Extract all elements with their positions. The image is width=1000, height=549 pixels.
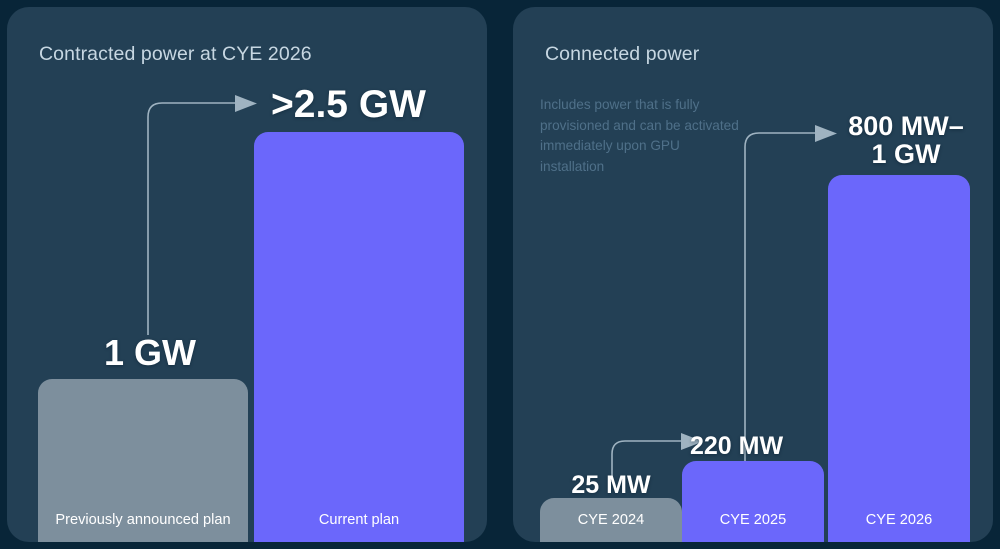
bar-cye-2026[interactable]: CYE 2026 bbox=[828, 175, 970, 542]
page-title-connected-power: Connected power bbox=[545, 43, 699, 66]
connector-arrow-left bbox=[142, 95, 267, 335]
bar-label-current-plan: Current plan bbox=[254, 511, 464, 530]
bar-cye-2025[interactable]: CYE 2025 bbox=[682, 461, 824, 542]
bar-label-cye-2024: CYE 2024 bbox=[540, 511, 682, 530]
value-label-previously-announced-plan: 1 GW bbox=[45, 335, 255, 372]
bar-previously-announced-plan[interactable]: Previously announced plan bbox=[38, 379, 248, 542]
page-title-contracted-power: Contracted power at CYE 2026 bbox=[39, 43, 312, 66]
value-label-cye-2025: 220 MW bbox=[690, 434, 850, 460]
value-label-cye-2026: 800 MW– 1 GW bbox=[821, 113, 991, 168]
card-subtitle-connected-power: Includes power that is fully provisioned… bbox=[540, 95, 740, 177]
card-contracted-power: Contracted power at CYE 2026 1 GW >2.5 G… bbox=[7, 7, 487, 542]
bar-cye-2024[interactable]: CYE 2024 bbox=[540, 498, 682, 542]
value-label-cye-2024: 25 MW bbox=[540, 473, 682, 499]
value-label-current-plan: >2.5 GW bbox=[271, 85, 487, 125]
bar-label-previously-announced-plan: Previously announced plan bbox=[38, 511, 248, 530]
bar-label-cye-2025: CYE 2025 bbox=[682, 511, 824, 530]
bar-current-plan[interactable]: Current plan bbox=[254, 132, 464, 542]
chart-canvas: Contracted power at CYE 2026 1 GW >2.5 G… bbox=[0, 0, 1000, 549]
card-connected-power: Connected power Includes power that is f… bbox=[513, 7, 993, 542]
bar-label-cye-2026: CYE 2026 bbox=[828, 511, 970, 530]
